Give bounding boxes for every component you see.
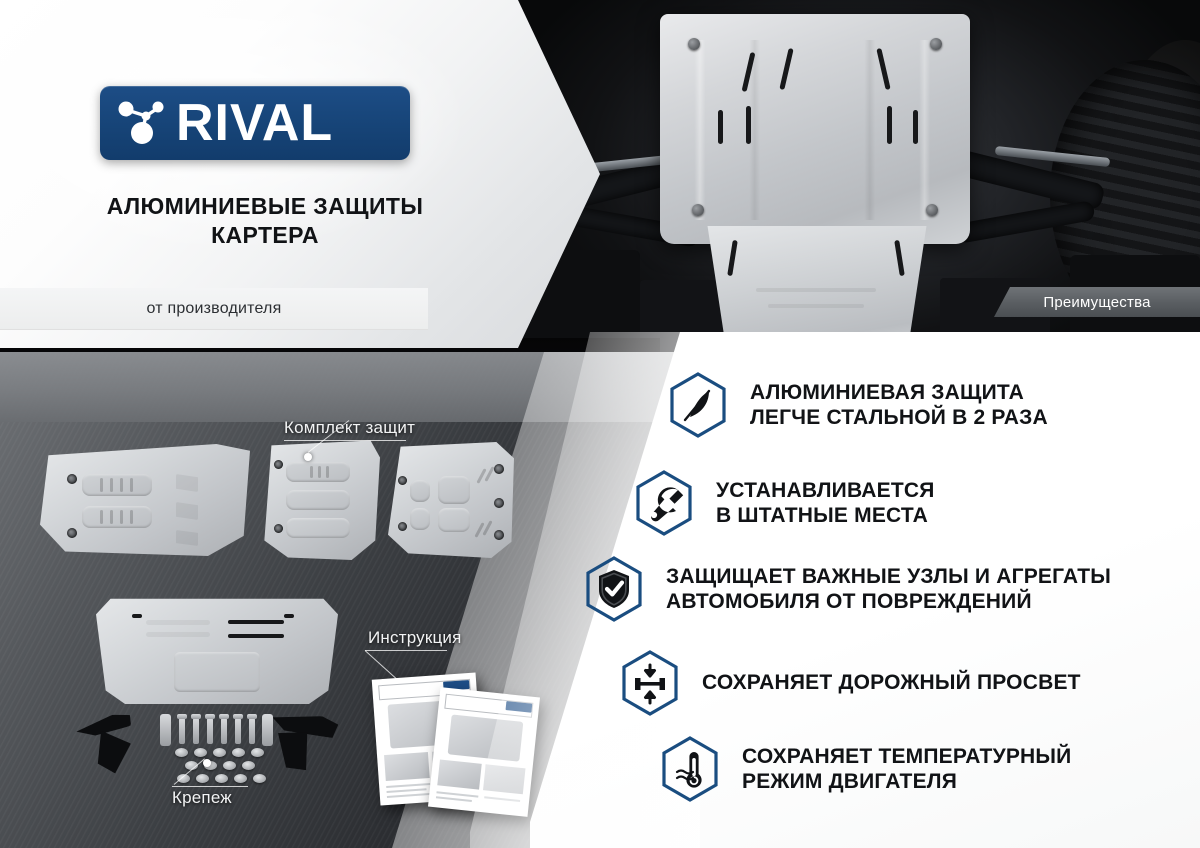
plate-vent-slot	[228, 620, 284, 624]
hardware-strip	[160, 714, 171, 746]
mount-hole	[398, 522, 407, 531]
plate-rib	[110, 478, 113, 492]
sheet-text-line	[386, 783, 430, 788]
thermometer-icon	[660, 736, 720, 802]
plate-rib	[146, 632, 210, 637]
plate-rib	[318, 466, 321, 478]
hardware-bolt	[179, 718, 185, 744]
plate-vent-slot	[887, 106, 892, 144]
feather-icon	[668, 372, 728, 438]
callout-label-hardware: Крепеж	[172, 788, 232, 808]
hardware-washer	[215, 774, 228, 783]
plate-rib	[310, 466, 313, 478]
hardware-washer	[196, 774, 209, 783]
plate-bolt	[926, 204, 938, 216]
benefit-item-4: СОХРАНЯЕТ ДОРОЖНЫЙ ПРОСВЕТ	[620, 650, 1081, 716]
hardware-strip	[262, 714, 273, 746]
plate-panel	[286, 518, 350, 538]
hardware-bolt	[249, 718, 255, 744]
plate-vent-slot	[913, 110, 918, 144]
mount-hole	[494, 498, 504, 508]
sheet-text-line	[484, 796, 520, 802]
sheet-photo	[384, 752, 430, 781]
plate-rib	[130, 478, 133, 492]
plate-vent-slot	[284, 614, 294, 618]
benefit-item-5: СОХРАНЯЕТ ТЕМПЕРАТУРНЫЙ РЕЖИМ ДВИГАТЕЛЯ	[660, 736, 1071, 802]
skid-plate-large	[96, 592, 338, 704]
plate-rib	[110, 510, 113, 524]
callout-label-kit: Комплект защит	[284, 418, 415, 438]
sheet-diagram	[448, 714, 524, 761]
brand-logo: RIVAL	[100, 86, 410, 160]
hardware-washer	[175, 748, 188, 757]
plate-vent-slot	[228, 634, 284, 638]
sheet-photo	[437, 759, 481, 789]
brand-wordmark: RIVAL	[176, 97, 333, 149]
callout-dot-kit	[304, 453, 312, 461]
page-title: АЛЮМИНИЕВЫЕ ЗАЩИТЫ КАРТЕРА	[100, 192, 430, 251]
hardware-bolt-head	[233, 714, 243, 719]
benefit-item-1: АЛЮМИНИЕВАЯ ЗАЩИТА ЛЕГЧЕ СТАЛЬНОЙ В 2 РА…	[668, 372, 1048, 438]
sheet-text-line	[387, 793, 433, 798]
mount-hole	[398, 476, 407, 485]
plate-rib	[146, 620, 210, 625]
skid-plate-surface	[40, 444, 250, 556]
hardware-bolt	[221, 718, 227, 744]
plate-panel	[438, 508, 470, 532]
mount-hole	[274, 460, 283, 469]
skid-plate-1	[40, 444, 250, 556]
plate-vent-slot	[894, 240, 905, 276]
plate-bolt	[688, 38, 700, 50]
plate-vent-slot	[876, 48, 890, 90]
benefit-item-2: УСТАНАВЛИВАЕТСЯ В ШТАТНЫЕ МЕСТА	[634, 470, 935, 536]
plate-panel	[410, 480, 430, 502]
mount-hole	[67, 474, 77, 484]
hardware-bolt-head	[191, 714, 201, 719]
shield-check-icon	[584, 556, 644, 622]
wrench-icon	[634, 470, 694, 536]
hero-skid-plate-upper	[660, 14, 970, 244]
benefit-text-5: СОХРАНЯЕТ ТЕМПЕРАТУРНЫЙ РЕЖИМ ДВИГАТЕЛЯ	[742, 744, 1071, 794]
plate-vent-slot	[132, 614, 142, 618]
sheet-photo	[483, 764, 525, 794]
plate-vent-slot	[746, 106, 751, 144]
hardware-washer	[251, 748, 264, 757]
plate-rib	[120, 510, 123, 524]
benefit-text-2: УСТАНАВЛИВАЕТСЯ В ШТАТНЫЕ МЕСТА	[716, 478, 935, 528]
benefit-text-3: ЗАЩИЩАЕТ ВАЖНЫЕ УЗЛЫ И АГРЕГАТЫ АВТОМОБИ…	[666, 564, 1111, 614]
plate-rib	[130, 510, 133, 524]
plate-vent-slot	[779, 48, 793, 90]
hardware-washer	[234, 774, 247, 783]
plate-vent-slot	[718, 110, 723, 144]
hardware-bolt	[235, 718, 241, 744]
hardware-bolt-head	[205, 714, 215, 719]
mount-hole	[494, 530, 504, 540]
advantages-tab: Преимущества	[994, 287, 1200, 317]
sheet-text-line	[436, 796, 472, 802]
hardware-washer	[253, 774, 266, 783]
skid-plate-3	[388, 442, 514, 558]
hardware-bolt	[193, 718, 199, 744]
plate-rib	[120, 478, 123, 492]
plate-bolt	[692, 204, 704, 216]
plate-panel	[82, 506, 152, 528]
plate-rib	[100, 478, 103, 492]
mount-hole	[274, 524, 283, 533]
plate-panel	[174, 652, 260, 692]
plate-bolt	[930, 38, 942, 50]
hardware-bolt-head	[177, 714, 187, 719]
benefit-text-1: АЛЮМИНИЕВАЯ ЗАЩИТА ЛЕГЧЕ СТАЛЬНОЙ В 2 РА…	[750, 380, 1048, 430]
benefit-item-3: ЗАЩИЩАЕТ ВАЖНЫЕ УЗЛЫ И АГРЕГАТЫ АВТОМОБИ…	[584, 556, 1111, 622]
hardware-washer	[232, 748, 245, 757]
plate-panel	[438, 476, 470, 504]
hardware-washer	[213, 748, 226, 757]
hero-subtitle: от производителя	[0, 288, 428, 330]
callout-underline-kit	[284, 440, 406, 441]
mount-hole	[67, 528, 77, 538]
benefit-text-4: СОХРАНЯЕТ ДОРОЖНЫЙ ПРОСВЕТ	[702, 670, 1081, 695]
hardware-bolt	[207, 718, 213, 744]
callout-underline-hardware	[172, 786, 248, 787]
hardware-washer	[223, 761, 236, 770]
hardware-bolt-head	[219, 714, 229, 719]
callout-dot-hardware	[203, 759, 211, 767]
callout-label-instruction: Инструкция	[368, 628, 462, 648]
plate-panel	[82, 474, 152, 496]
molecule-icon	[116, 97, 170, 149]
plate-vent-slot	[742, 52, 756, 92]
hardware-washer	[242, 761, 255, 770]
callout-underline-instruction	[365, 650, 447, 651]
hardware-bolt-head	[247, 714, 257, 719]
sheet-text-line	[387, 788, 427, 793]
plate-rib	[768, 304, 864, 308]
instruction-sheet-2	[428, 687, 540, 817]
poster-root: Комплект защит Инструкция Крепеж RIVAL А…	[0, 0, 1200, 848]
plate-panel	[410, 508, 430, 530]
plate-vent-slot	[727, 240, 738, 276]
plate-rib	[326, 466, 329, 478]
hardware-washer	[194, 748, 207, 757]
plate-panel	[286, 490, 350, 510]
ground-clearance-icon	[620, 650, 680, 716]
plate-rib	[100, 510, 103, 524]
mount-hole	[494, 464, 504, 474]
skid-plate-2	[262, 438, 380, 560]
plate-rib	[756, 288, 876, 292]
